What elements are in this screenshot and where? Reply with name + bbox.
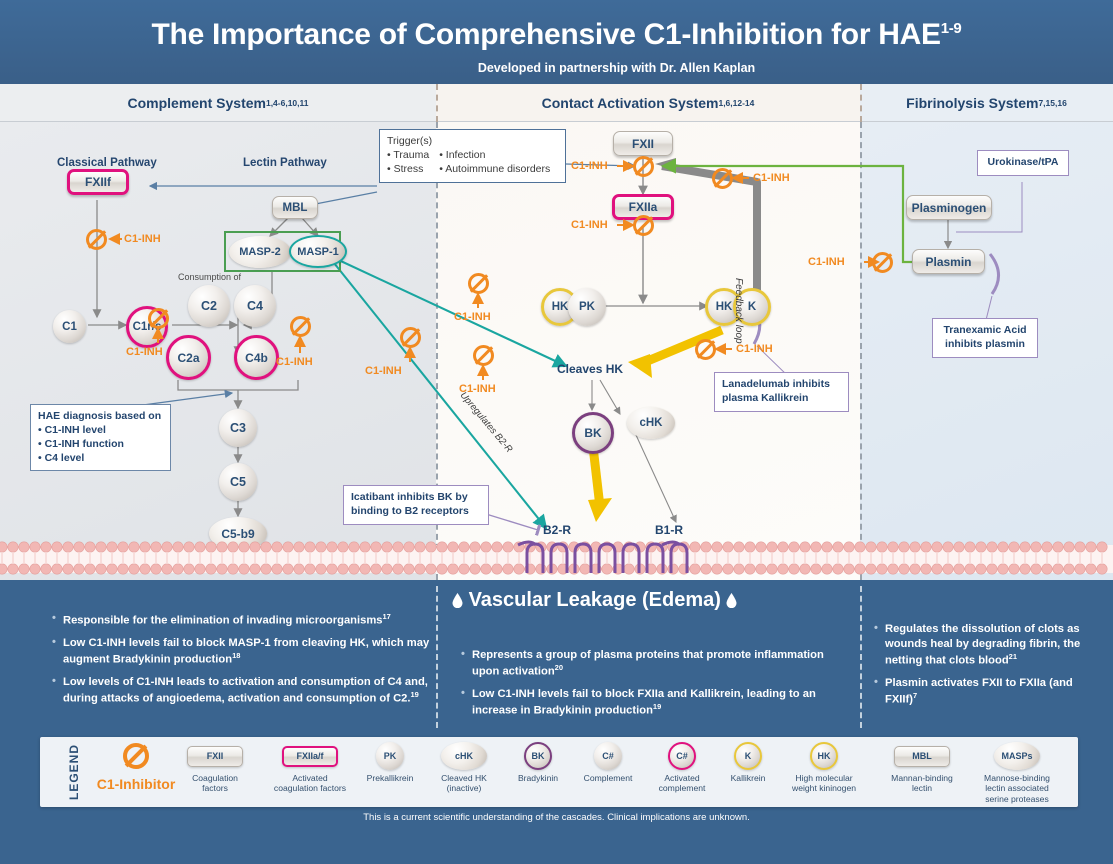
list-item: Regulates the dissolution of clots as wo… [874,622,1099,669]
section-header-bar: Complement System1,4-6,10,11 Contact Act… [0,84,1113,122]
inhibitor-arrow-layer [0,122,1113,580]
info-divider-2 [860,586,862,728]
info-bullets-complement: Responsible for the elimination of invad… [52,612,430,714]
list-item: Low levels of C1-INH leads to activation… [52,675,430,707]
list-item: Responsible for the elimination of invad… [52,612,430,629]
c1-inhibitor-icon [695,339,716,360]
legend-caption: Prekallikrein [348,773,432,783]
ellipse-icon: MASPs [958,741,1076,771]
water-drop-icon [452,591,463,606]
header-subtitle: Developed in partnership with Dr. Allen … [0,61,1113,75]
water-drop-icon [726,591,737,606]
legend-item-4: cHKCleaved HK(inactive) [424,737,504,794]
c1-inh-label: C1-INH [126,346,163,358]
c1-inhibitor-icon [633,156,654,177]
footnote: This is a current scientific understandi… [0,812,1113,823]
sphere-gold-icon: HK [772,741,876,771]
sphere-icon: PK [348,741,432,771]
legend-item-6: C#Complement [568,737,648,783]
list-item: Low C1-INH levels fail to block MASP-1 f… [52,636,430,668]
c1-inhibitor-icon [148,308,169,329]
legend-item-5: BKBradykinin [500,737,576,783]
c1-inhibitor-icon [290,316,311,337]
sphere-icon: C# [568,741,648,771]
c1-inh-label: C1-INH [454,311,491,323]
page-title: The Importance of Comprehensive C1-Inhib… [0,18,1113,52]
diagram-canvas: Classical Pathway Lectin Pathway FXIIf M… [0,122,1113,580]
ellipse-icon: cHK [424,741,504,771]
legend-title: LEGEND [44,742,104,802]
legend-caption: Cleaved HK(inactive) [424,773,504,794]
section-header-complement: Complement System1,4-6,10,11 [0,84,436,122]
c1-inh-label: C1-INH [571,219,608,231]
c1-inhibitor-icon [468,273,489,294]
legend-item-3: PKPrekallikrein [348,737,432,783]
pill-icon: FXII [178,741,252,771]
legend-caption: Coagulationfactors [178,773,252,794]
legend-item-1: FXIICoagulationfactors [178,737,252,794]
legend-caption: Complement [568,773,648,783]
legend-item-9: HKHigh molecularweight kininogen [772,737,876,794]
c1-inh-label: C1-INH [571,160,608,172]
legend-caption: High molecularweight kininogen [772,773,876,794]
info-bullets-fibrinolysis: Regulates the dissolution of clots as wo… [874,622,1099,715]
legend-caption: Mannan-bindinglectin [874,773,970,794]
legend-item-11: MASPsMannose-bindinglectin associatedser… [958,737,1076,804]
list-item: Represents a group of plasma proteins th… [461,648,829,680]
c1-inh-label: C1-INH [276,356,313,368]
c1-inhibitor-icon [633,215,654,236]
section-divider-1 [436,84,438,122]
cell-membrane [0,537,1113,581]
info-bullets-contact: Represents a group of plasma proteins th… [461,648,829,726]
c1-inhibitor-icon [872,252,893,273]
section-divider-2 [860,84,862,122]
c1-inh-label: C1-INH [459,383,496,395]
pill-icon: MBL [874,741,970,771]
c1-inhibitor-icon [473,345,494,366]
c1-inh-label: C1-INH [365,365,402,377]
page-header: The Importance of Comprehensive C1-Inhib… [0,0,1113,84]
c1-inh-label: C1-INH [808,256,845,268]
legend-caption: Bradykinin [500,773,576,783]
legend-item-10: MBLMannan-bindinglectin [874,737,970,794]
vascular-leakage-title: Vascular Leakage (Edema) [452,589,737,612]
section-header-fibrinolysis: Fibrinolysis System7,15,16 [860,84,1113,122]
c1-inh-label: C1-INH [736,343,773,355]
c1-inhibitor-icon [400,327,421,348]
section-header-contact: Contact Activation System1,6,12-14 [436,84,860,122]
legend-caption: Mannose-bindinglectin associatedserine p… [958,773,1076,804]
list-item: Plasmin activates FXII to FXIIa (and FXI… [874,676,1099,708]
info-divider-1 [436,586,438,728]
c1-inh-label: C1-INH [753,172,790,184]
sphere-purple-icon: BK [500,741,576,771]
list-item: Low C1-INH levels fail to block FXIIa an… [461,687,829,719]
c1-inhibitor-icon [712,168,733,189]
